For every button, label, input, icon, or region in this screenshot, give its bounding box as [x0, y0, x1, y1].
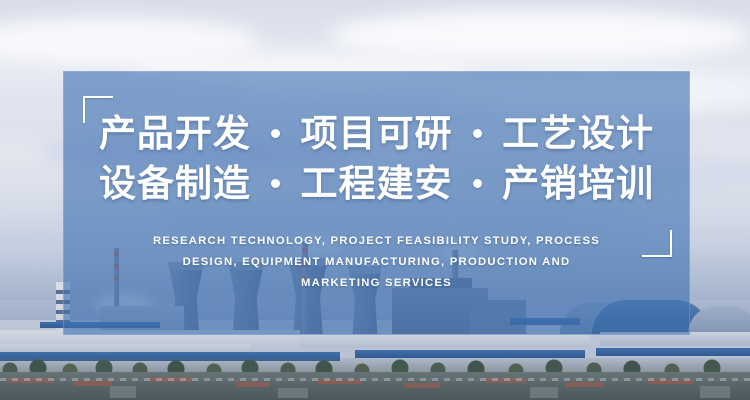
subtitle: RESEARCH TECHNOLOGY, PROJECT FEASIBILITY…: [103, 231, 650, 294]
cloud: [330, 10, 750, 62]
headline-segment: 产品开发: [99, 113, 251, 154]
text-overlay-panel: 产品开发 项目可研 工艺设计 设备制造 工程建安 产销培训 RESEARCH T…: [63, 71, 690, 335]
headline-segment: 工艺设计: [502, 113, 654, 154]
bullet-separator-icon: [473, 179, 482, 188]
bullet-separator-icon: [271, 179, 280, 188]
blue-roof: [596, 348, 750, 356]
headline-segment: 项目可研: [301, 113, 453, 154]
subtitle-line-3: MARKETING SERVICES: [103, 273, 650, 294]
blue-roof: [355, 350, 585, 358]
headline-segment: 工程建安: [301, 163, 453, 204]
headline-segment: 产销培训: [502, 163, 654, 204]
bullet-separator-icon: [473, 129, 482, 138]
headline-line-1: 产品开发 项目可研 工艺设计: [63, 109, 690, 159]
headline: 产品开发 项目可研 工艺设计 设备制造 工程建安 产销培训: [63, 109, 690, 209]
subtitle-line-1: RESEARCH TECHNOLOGY, PROJECT FEASIBILITY…: [103, 231, 650, 252]
factory-shed: [300, 334, 590, 348]
headline-line-2: 设备制造 工程建安 产销培训: [63, 159, 690, 209]
promo-banner: 产品开发 项目可研 工艺设计 设备制造 工程建安 产销培训 RESEARCH T…: [0, 0, 750, 400]
subtitle-line-2: DESIGN, EQUIPMENT MANUFACTURING, PRODUCT…: [103, 252, 650, 273]
foreground-townscape: [0, 372, 750, 400]
bullet-separator-icon: [271, 129, 280, 138]
rail-yard: [0, 378, 750, 381]
headline-segment: 设备制造: [99, 163, 251, 204]
